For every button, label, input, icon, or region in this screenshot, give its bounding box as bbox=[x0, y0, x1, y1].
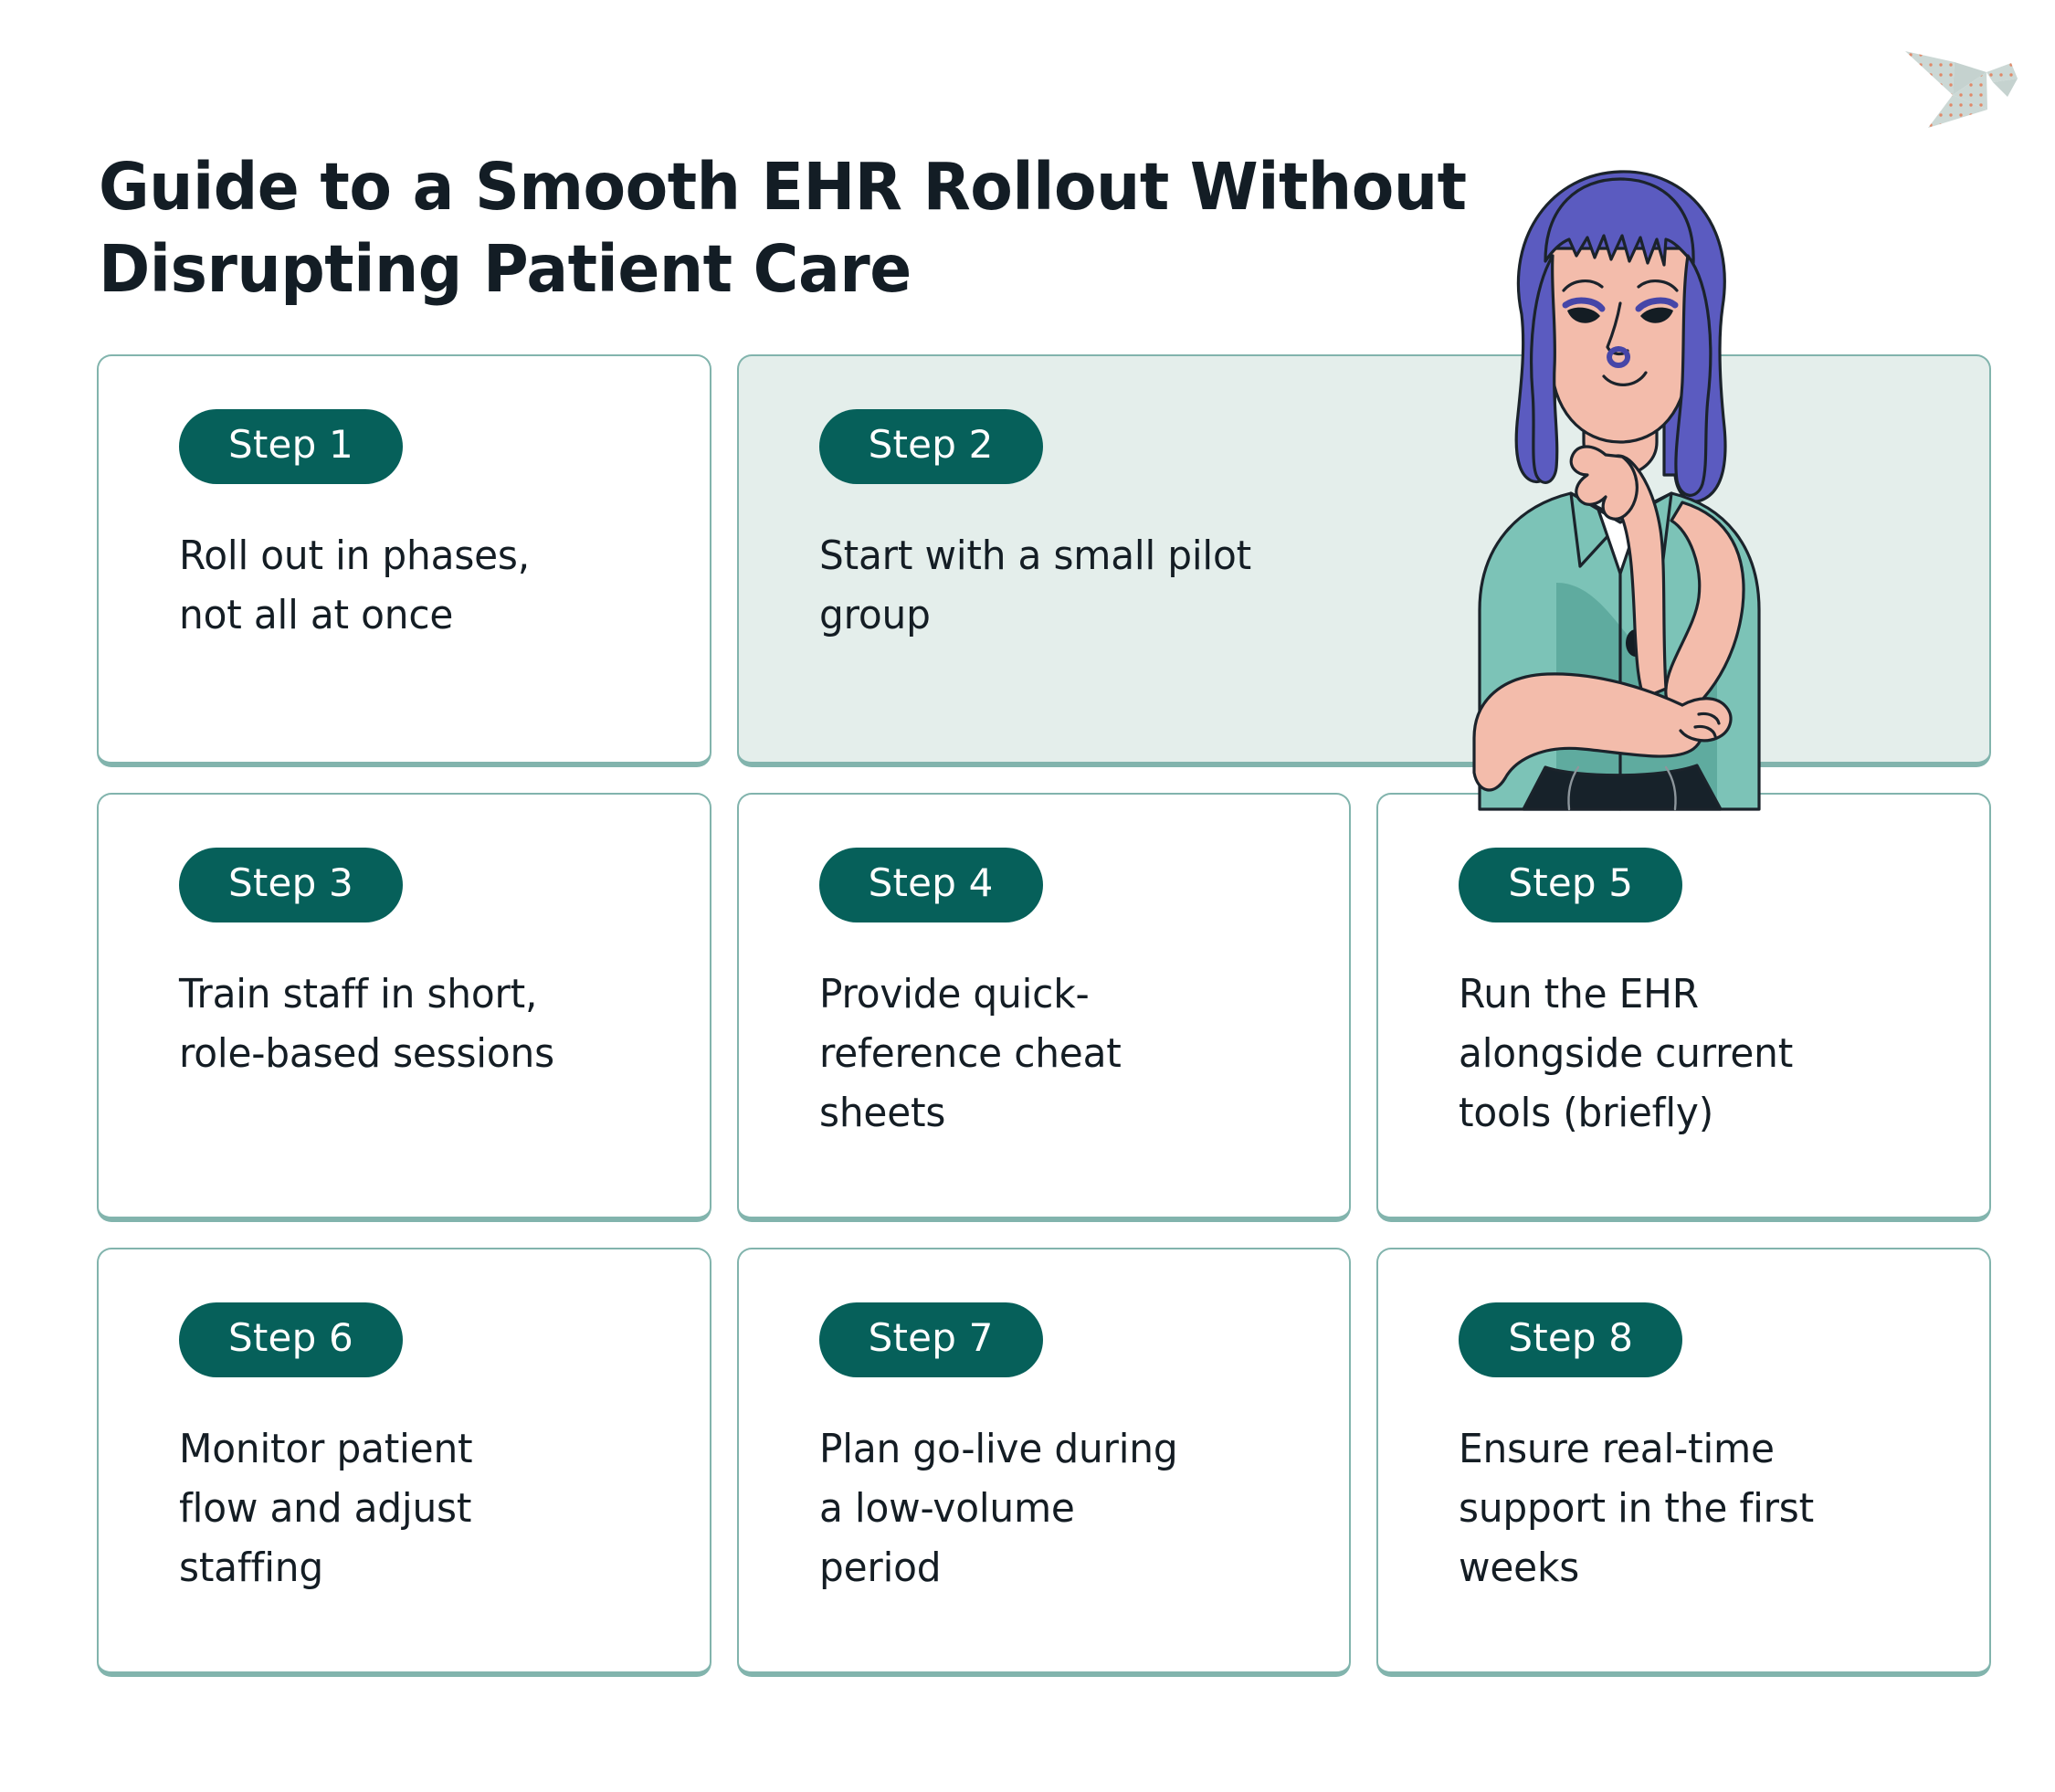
step-card-4[interactable]: Step 4 Provide quick- reference cheat sh… bbox=[737, 793, 1352, 1222]
step-text-7: Plan go-live during a low-volume period bbox=[819, 1419, 1260, 1597]
step-text-8: Ensure real-time support in the first we… bbox=[1459, 1419, 1900, 1597]
step-card-5[interactable]: Step 5 Run the EHR alongside current too… bbox=[1376, 793, 1991, 1222]
step-badge-1: Step 1 bbox=[179, 409, 403, 484]
step-card-7[interactable]: Step 7 Plan go-live during a low-volume … bbox=[737, 1248, 1352, 1677]
step-card-3[interactable]: Step 3 Train staff in short, role-based … bbox=[97, 793, 711, 1222]
step-badge-3: Step 3 bbox=[179, 848, 403, 922]
step-card-8[interactable]: Step 8 Ensure real-time support in the f… bbox=[1376, 1248, 1991, 1677]
step-badge-2: Step 2 bbox=[819, 409, 1043, 484]
page-title: Guide to a Smooth EHR Rollout Without Di… bbox=[99, 146, 1669, 312]
step-badge-4: Step 4 bbox=[819, 848, 1043, 922]
step-badge-8: Step 8 bbox=[1459, 1302, 1682, 1377]
origami-bird-logo bbox=[1898, 22, 2035, 132]
step-text-6: Monitor patient flow and adjust staffing bbox=[179, 1419, 620, 1597]
step-card-1[interactable]: Step 1 Roll out in phases, not all at on… bbox=[97, 354, 711, 767]
step-text-4: Provide quick- reference cheat sheets bbox=[819, 965, 1260, 1143]
step-badge-7: Step 7 bbox=[819, 1302, 1043, 1377]
step-text-2: Start with a small pilot group bbox=[819, 526, 1874, 645]
step-text-5: Run the EHR alongside current tools (bri… bbox=[1459, 965, 1900, 1143]
step-badge-5: Step 5 bbox=[1459, 848, 1682, 922]
infographic-page: Guide to a Smooth EHR Rollout Without Di… bbox=[0, 0, 2055, 1792]
steps-grid: Step 1 Roll out in phases, not all at on… bbox=[97, 354, 1991, 1677]
step-text-3: Train staff in short, role-based session… bbox=[179, 965, 620, 1083]
step-badge-6: Step 6 bbox=[179, 1302, 403, 1377]
step-text-1: Roll out in phases, not all at once bbox=[179, 526, 620, 645]
step-card-2[interactable]: Step 2 Start with a small pilot group bbox=[737, 354, 1991, 767]
step-card-6[interactable]: Step 6 Monitor patient flow and adjust s… bbox=[97, 1248, 711, 1677]
